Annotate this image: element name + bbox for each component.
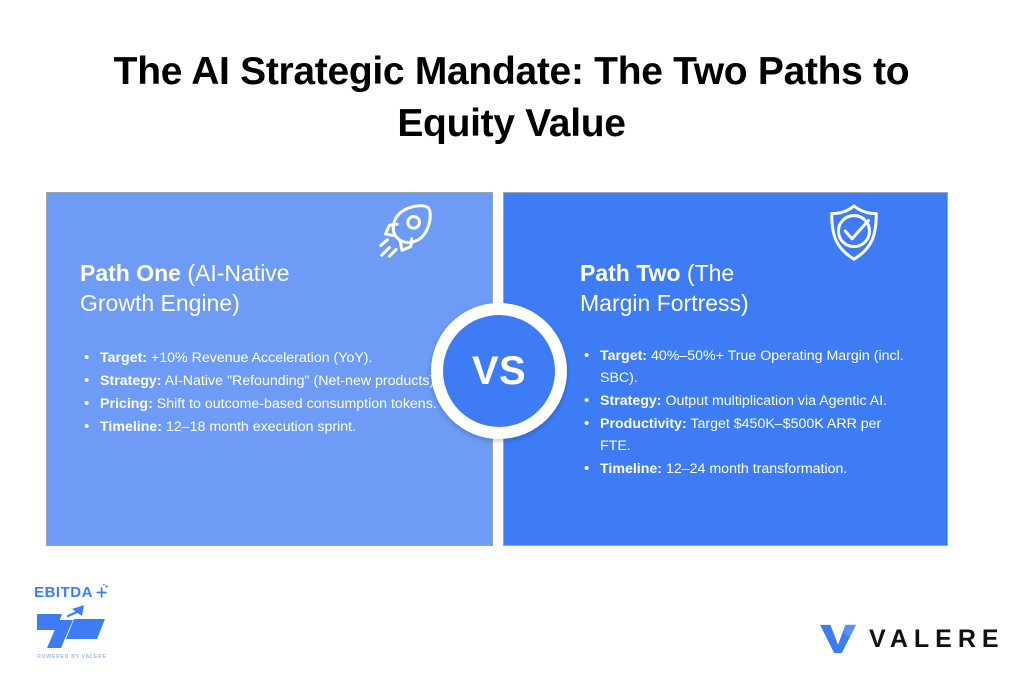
- panel-two-heading: Path Two (The Margin Fortress): [580, 258, 785, 319]
- bullet-text: Shift to outcome-based consumption token…: [153, 396, 437, 412]
- bullet-label: Strategy:: [600, 393, 662, 409]
- bullet-label: Pricing:: [100, 396, 153, 412]
- bullet-text: AI-Native "Refounding" (Net-new products…: [162, 373, 439, 389]
- bullet-label: Timeline:: [600, 461, 662, 477]
- bullet-label: Target:: [600, 348, 647, 364]
- list-item: Timeline: 12–18 month execution sprint.: [80, 416, 472, 438]
- panel-one-heading: Path One (AI-Native Growth Engine): [80, 258, 335, 319]
- rocket-icon: [372, 201, 434, 268]
- slide-canvas: The AI Strategic Mandate: The Two Paths …: [0, 0, 1023, 677]
- panel-one-heading-bold: Path One: [80, 260, 181, 286]
- ebitda-wordmark: EBITDA: [18, 583, 126, 601]
- valere-logo: VALERE: [818, 622, 1005, 656]
- list-item: Timeline: 12–24 month transformation.: [580, 458, 910, 480]
- panel-two-heading-bold: Path Two: [580, 260, 681, 286]
- list-item: Target: 40%–50%+ True Operating Margin (…: [580, 345, 910, 389]
- ebitda-plus-logo: EBITDA POWERED BY VALERE: [18, 583, 126, 660]
- panel-path-one: Path One (AI-Native Growth Engine) Targe…: [46, 192, 493, 546]
- ebitda-mark-icon: [29, 603, 115, 651]
- valere-wordmark: VALERE: [869, 625, 1005, 654]
- list-item: Strategy: AI-Native "Refounding" (Net-ne…: [80, 370, 472, 392]
- bullet-label: Productivity:: [600, 416, 687, 432]
- vs-badge: VS: [431, 303, 567, 439]
- sparkle-plus-icon: [94, 583, 110, 599]
- bullet-text: 12–24 month transformation.: [662, 461, 847, 477]
- vs-badge-circle: VS: [443, 315, 555, 427]
- list-item: Strategy: Output multiplication via Agen…: [580, 390, 910, 412]
- vs-badge-label: VS: [472, 349, 526, 394]
- list-item: Target: +10% Revenue Acceleration (YoY).: [80, 347, 472, 369]
- valere-mark-icon: [818, 622, 858, 656]
- list-item: Productivity: Target $450K–$500K ARR per…: [580, 413, 910, 457]
- bullet-text: Output multiplication via Agentic AI.: [662, 393, 888, 409]
- panel-path-two: Path Two (The Margin Fortress) Target: 4…: [503, 192, 948, 546]
- shield-check-icon: [823, 201, 885, 270]
- bullet-label: Timeline:: [100, 419, 162, 435]
- bullet-label: Target:: [100, 350, 147, 366]
- bullet-label: Strategy:: [100, 373, 162, 389]
- panel-one-bullet-list: Target: +10% Revenue Acceleration (YoY).…: [80, 347, 472, 439]
- page-title: The AI Strategic Mandate: The Two Paths …: [110, 46, 913, 150]
- bullet-text: 12–18 month execution sprint.: [162, 419, 356, 435]
- ebitda-tagline: POWERED BY VALERE: [18, 654, 126, 660]
- list-item: Pricing: Shift to outcome-based consumpt…: [80, 393, 472, 415]
- panel-two-bullet-list: Target: 40%–50%+ True Operating Margin (…: [580, 345, 910, 481]
- ebitda-word-text: EBITDA: [34, 584, 93, 601]
- bullet-text: +10% Revenue Acceleration (YoY).: [147, 350, 372, 366]
